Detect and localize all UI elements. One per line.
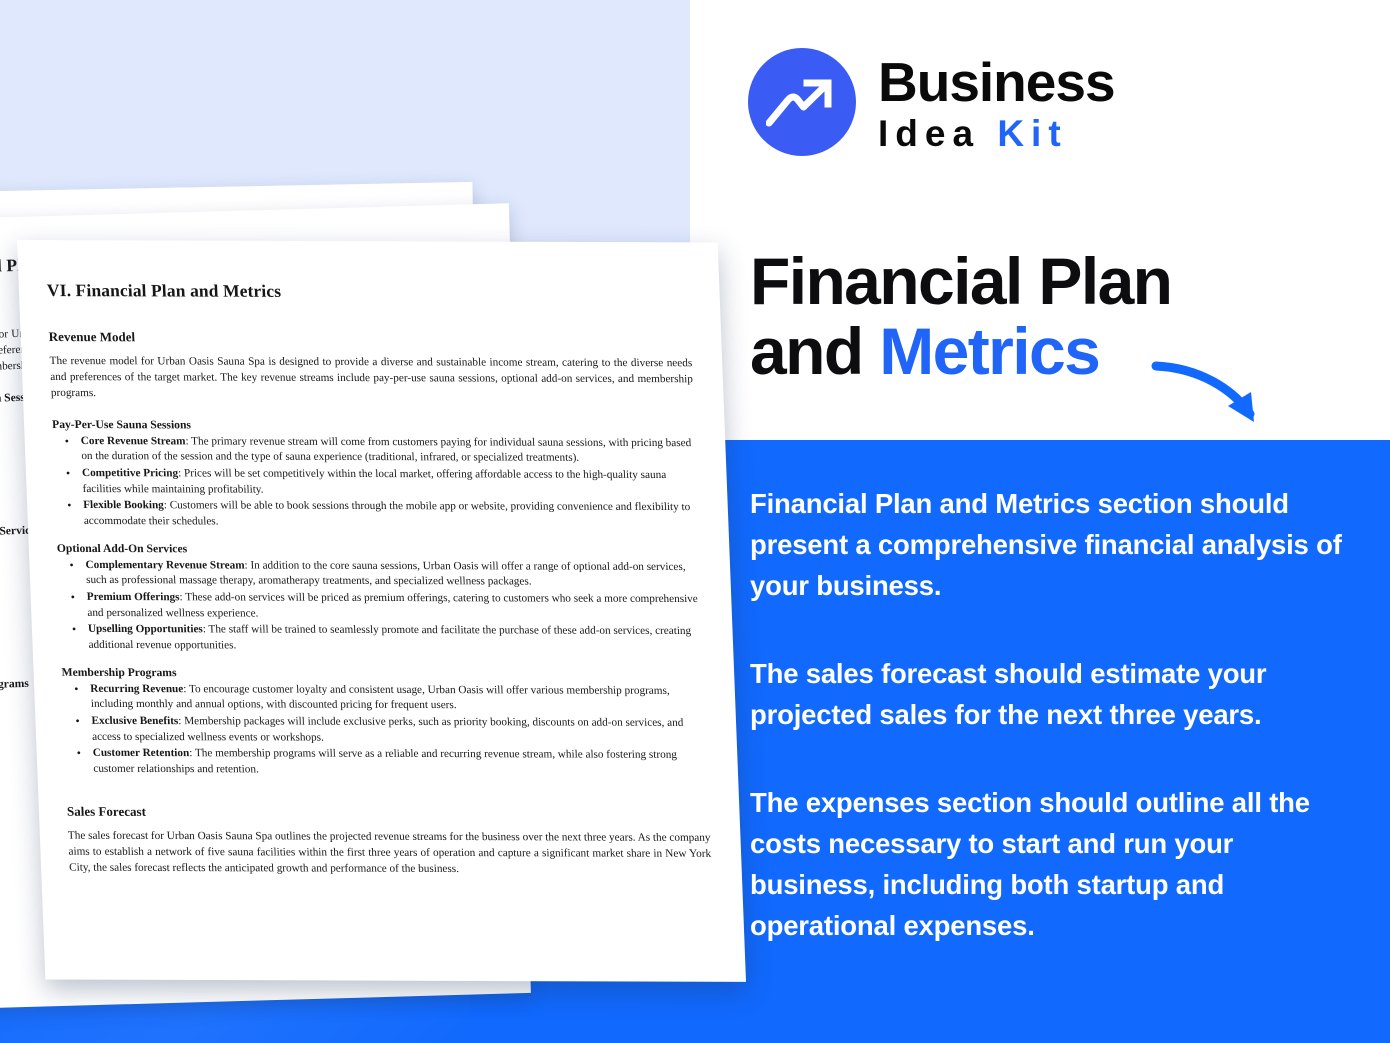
doc-heading: VI. Financial Plan and Metrics <box>47 280 690 303</box>
doc-bullet-label: Complementary Revenue Stream <box>85 559 244 572</box>
doc-bullet-item: Upselling Opportunities: The staff will … <box>60 622 704 656</box>
panel-paragraph-1: Financial Plan and Metrics section shoul… <box>750 484 1350 607</box>
doc-bullet-text: : Customers will be able to book session… <box>84 500 691 528</box>
curved-arrow-icon <box>1150 352 1280 432</box>
doc-section-revenue-model-paragraph: The revenue model for Urban Oasis Sauna … <box>49 354 693 404</box>
page-title-line1: Financial Plan <box>750 244 1171 318</box>
brand-name-idea-kit: Idea Kit <box>878 115 1115 152</box>
doc-section-sales-forecast-title: Sales Forecast <box>67 803 710 821</box>
doc-bullet-label: Recurring Revenue <box>90 683 183 695</box>
doc-bullet-label: Customer Retention <box>93 747 190 759</box>
doc-bullet-item: Complementary Revenue Stream: In additio… <box>57 558 701 592</box>
doc-bullet-item: Recurring Revenue: To encourage customer… <box>62 682 706 716</box>
doc-bullet-list: Complementary Revenue Stream: In additio… <box>57 558 703 656</box>
doc-bullet-label: Competitive Pricing <box>82 467 179 479</box>
panel-description: Financial Plan and Metrics section shoul… <box>750 484 1350 947</box>
doc-bullet-item: Core Revenue Stream: The primary revenue… <box>52 434 696 468</box>
doc-bullet-item: Exclusive Benefits: Membership packages … <box>63 714 707 748</box>
doc-bullet-item: Flexible Booking: Customers will be able… <box>55 498 699 532</box>
doc-bullet-text: : Membership packages will include exclu… <box>92 715 684 743</box>
doc-section-revenue-model-title: Revenue Model <box>48 329 691 347</box>
doc-bullet-item: Premium Offerings: These add-on services… <box>58 590 702 624</box>
document-page-front: VI. Financial Plan and Metrics Revenue M… <box>17 240 746 982</box>
brand-name-business: Business <box>878 55 1115 110</box>
doc-bullet-label: Flexible Booking <box>83 499 164 511</box>
page-title-line2-prefix: and <box>750 314 879 388</box>
doc-bullet-item: Competitive Pricing: Prices will be set … <box>54 466 698 500</box>
doc-group-title: Pay-Per-Use Sauna Sessions <box>52 418 695 433</box>
doc-bullet-list: Recurring Revenue: To encourage customer… <box>62 682 708 780</box>
doc-bullet-item: Customer Retention: The membership progr… <box>64 746 708 780</box>
doc-bullet-label: Premium Offerings <box>87 591 180 603</box>
trending-up-arrow-icon <box>748 48 856 156</box>
doc-bullet-text: : These add-on services will be priced a… <box>87 591 698 619</box>
doc-section-sales-forecast-paragraph: The sales forecast for Urban Oasis Sauna… <box>68 828 712 878</box>
doc-bullet-label: Core Revenue Stream <box>81 435 186 447</box>
doc-bullet-list: Core Revenue Stream: The primary revenue… <box>52 434 698 532</box>
slide-canvas: VI. Financial Plan and Metrics Revenue M… <box>0 0 1390 1043</box>
brand-name-kit: Kit <box>997 113 1067 154</box>
doc-group-title: Optional Add-On Services <box>57 542 700 557</box>
brand-name-idea: Idea <box>878 113 980 154</box>
brand-logo: Business Idea Kit <box>748 48 1115 156</box>
panel-paragraph-3: The expenses section should outline all … <box>750 783 1350 947</box>
page-title-line2-accent: Metrics <box>879 314 1099 388</box>
doc-group-title: Membership Programs <box>61 666 704 681</box>
brand-wordmark: Business Idea Kit <box>878 53 1115 152</box>
panel-paragraph-2: The sales forecast should estimate your … <box>750 654 1350 736</box>
doc-bullet-label: Exclusive Benefits <box>91 715 178 727</box>
doc-bullet-label: Upselling Opportunities <box>88 623 203 635</box>
